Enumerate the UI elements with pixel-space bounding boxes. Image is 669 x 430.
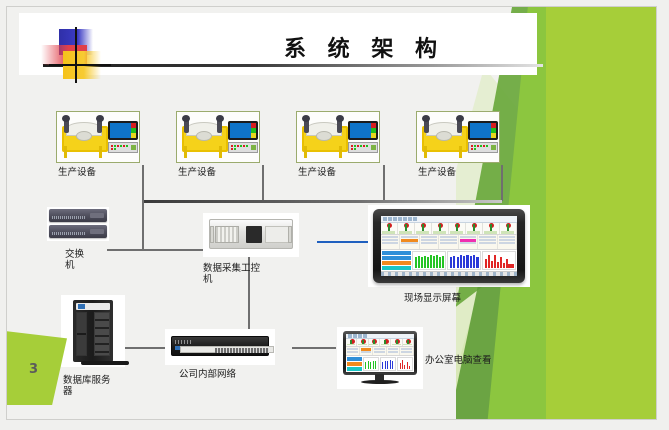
machine-leg-right xyxy=(219,146,222,158)
server-base xyxy=(81,361,129,365)
indicator-yellow xyxy=(371,133,376,138)
bar xyxy=(436,255,438,268)
bar xyxy=(375,361,376,369)
equipment-control-panel-icon xyxy=(108,142,138,153)
left-row xyxy=(382,261,411,265)
cell-line xyxy=(382,242,398,244)
gauge-widget xyxy=(357,339,368,346)
database-server-label: 数据库服务器 xyxy=(63,375,115,397)
page-title: 系 统 架 构 xyxy=(229,31,499,63)
switch-ports xyxy=(52,232,86,235)
monitor-indicators xyxy=(251,123,256,138)
machine-icon xyxy=(298,114,348,160)
panel-led xyxy=(237,145,239,147)
switch-unit-bottom xyxy=(49,225,107,238)
switch-label: 交换机 xyxy=(65,249,91,271)
machine-head-left xyxy=(302,115,310,122)
equipment-control-panel-icon xyxy=(228,142,258,153)
equipment-label-4: 生产设备 xyxy=(418,167,460,178)
cell-line xyxy=(401,348,412,350)
left-row xyxy=(347,367,362,371)
gauge-cap xyxy=(450,231,463,234)
dashboard-gauge-row xyxy=(381,223,517,235)
hairline-3 xyxy=(7,253,65,292)
toolbar-icon xyxy=(408,217,412,221)
panel-led xyxy=(234,148,236,150)
connector-bus-to-ipc xyxy=(142,200,144,250)
office-monitor-bezel xyxy=(343,331,417,375)
panel-cell xyxy=(360,347,374,355)
bar xyxy=(427,257,429,268)
machine-leg-right xyxy=(339,146,342,158)
monitor-screen xyxy=(230,123,251,138)
gauge-widget xyxy=(500,223,517,234)
panel-led xyxy=(360,145,362,147)
lan-switch-icon xyxy=(165,329,275,365)
machine-icon xyxy=(178,114,228,160)
left-row xyxy=(347,362,362,366)
machine-disc xyxy=(76,131,92,141)
bar xyxy=(370,362,371,369)
switch-icon xyxy=(47,207,109,241)
gauge-widget xyxy=(381,223,398,234)
connector-eq1-drop xyxy=(142,165,144,201)
gauge-stick xyxy=(388,224,390,231)
bar xyxy=(365,362,366,369)
bar xyxy=(404,365,405,369)
bar-chart-green xyxy=(363,357,379,371)
logo-vertical-bar xyxy=(75,27,77,83)
monitor-indicators xyxy=(491,123,496,138)
bar xyxy=(421,257,423,268)
bar xyxy=(368,361,369,369)
switch-ports xyxy=(52,216,86,219)
cell-line xyxy=(440,236,456,238)
toolbar-icon xyxy=(393,217,397,221)
machine-leg-right xyxy=(99,146,102,158)
panel-led xyxy=(234,145,236,147)
toolbar-icon xyxy=(398,217,402,221)
node-production-equipment-4[interactable]: 生产设备 xyxy=(416,111,500,163)
lan-switch-chassis xyxy=(171,336,269,356)
panel-button xyxy=(371,145,376,150)
bar xyxy=(407,362,408,369)
gauge-widget xyxy=(415,223,432,234)
machine-head-right xyxy=(456,115,464,122)
machine-disc xyxy=(196,131,212,141)
equipment-hmi xyxy=(468,121,498,153)
machine-head-left xyxy=(62,115,70,122)
panel-led xyxy=(357,145,359,147)
toolbar-icon xyxy=(353,334,357,338)
machine-disc xyxy=(436,131,452,141)
chassis-ear-right xyxy=(288,226,292,243)
dashboard-large xyxy=(381,216,517,276)
gauge-cap xyxy=(416,231,429,234)
gauge-cap xyxy=(501,231,514,234)
logo-horizontal-bar xyxy=(49,64,111,66)
connector-eq3-drop xyxy=(383,165,385,201)
dashboard-small xyxy=(346,334,414,372)
gauge-stick xyxy=(473,224,475,231)
panel-led xyxy=(111,148,113,150)
bar xyxy=(402,360,403,369)
bar xyxy=(485,259,487,267)
chassis-faceplate xyxy=(265,226,289,243)
equipment-monitor-icon xyxy=(108,121,138,140)
dashboard-gauge-row xyxy=(346,339,414,347)
gauge-stick xyxy=(456,224,458,231)
office-monitor-screen xyxy=(346,334,414,372)
indicator-yellow xyxy=(491,133,496,138)
connector-switch-to-ipc xyxy=(107,249,205,251)
wall-display-icon xyxy=(368,205,530,287)
machine-icon xyxy=(58,114,108,160)
cell-line xyxy=(421,236,437,238)
node-office-pc[interactable]: 办公室电脑查看 xyxy=(337,327,423,389)
lan-switch-label: 公司内部网络 xyxy=(179,369,239,380)
panel-cell xyxy=(498,235,517,248)
cell-line xyxy=(374,351,385,353)
gauge-stick xyxy=(490,224,492,231)
wall-display-screen xyxy=(381,216,517,276)
bar-chart-blue xyxy=(380,357,396,371)
gauge-widget xyxy=(391,339,402,346)
node-production-equipment-3[interactable]: 生产设备 xyxy=(296,111,380,163)
panel-cell xyxy=(387,347,401,355)
panel-led xyxy=(246,145,248,147)
panel-led xyxy=(474,148,476,150)
gauge-cap xyxy=(399,231,412,234)
equipment-card xyxy=(416,111,500,163)
slide-canvas: 系 统 架 构 xyxy=(6,6,657,420)
gauge-cap xyxy=(467,231,480,234)
gauge-widget xyxy=(380,339,391,346)
bg-shape-bright xyxy=(546,7,656,419)
monitor-screen xyxy=(350,123,371,138)
toolbar-icon xyxy=(348,334,352,338)
toolbar-icon xyxy=(413,217,417,221)
cell-line xyxy=(374,348,385,350)
machine-head-left xyxy=(182,115,190,122)
panel-led xyxy=(474,145,476,147)
indicator-yellow xyxy=(251,133,256,138)
gauge-cap xyxy=(392,344,401,346)
machine-leg-left xyxy=(304,146,307,158)
panel-led xyxy=(231,148,233,150)
node-industrial-pc[interactable]: 数据采集工控机 xyxy=(203,213,299,257)
gauge-cap xyxy=(381,344,390,346)
bar xyxy=(460,255,462,267)
equipment-card xyxy=(56,111,140,163)
equipment-control-panel-icon xyxy=(468,142,498,153)
cell-line xyxy=(499,236,515,238)
connector-equipment-bus xyxy=(142,200,502,203)
node-switch[interactable]: 交换机 xyxy=(47,207,109,241)
connector-eq2-drop xyxy=(262,165,264,201)
node-wall-display[interactable]: 现场显示屏幕 xyxy=(368,205,530,287)
page-number: 3 xyxy=(29,362,38,377)
machine-icon xyxy=(418,114,468,160)
cell-line xyxy=(421,239,437,241)
gauge-widget xyxy=(369,339,380,346)
cell-line xyxy=(440,242,456,244)
bar xyxy=(453,256,455,268)
left-row xyxy=(382,251,411,255)
gauge-cap xyxy=(484,231,497,234)
bar xyxy=(497,262,499,268)
slide-root: 系 统 架 构 xyxy=(0,0,669,430)
bar xyxy=(463,256,465,267)
equipment-label-2: 生产设备 xyxy=(178,167,220,178)
bar xyxy=(418,256,420,268)
equipment-monitor-icon xyxy=(468,121,498,140)
dashboard-toolbar xyxy=(381,216,517,223)
bar xyxy=(424,256,426,268)
panel-cell xyxy=(346,347,360,355)
bar xyxy=(506,259,508,268)
toolbar-icon xyxy=(403,217,407,221)
bar xyxy=(382,362,383,369)
machine-head-right xyxy=(216,115,224,122)
gauge-stick xyxy=(507,224,509,231)
panel-cell xyxy=(439,235,458,248)
cell-line xyxy=(382,236,398,238)
indicator-yellow xyxy=(131,133,136,138)
panel-leds xyxy=(230,145,250,151)
office-pc-label: 办公室电脑查看 xyxy=(425,355,495,366)
bar xyxy=(433,256,435,267)
cell-line xyxy=(479,236,495,238)
bar xyxy=(500,257,502,268)
toolbar-icon xyxy=(383,217,387,221)
gauge-widget xyxy=(466,223,483,234)
machine-head-right xyxy=(96,115,104,122)
gauge-stick xyxy=(422,224,424,231)
wall-display-label: 现场显示屏幕 xyxy=(404,293,466,304)
server-tower xyxy=(73,300,113,362)
cell-line xyxy=(401,236,417,238)
panel-led xyxy=(111,145,113,147)
dashboard-left-panel xyxy=(347,357,362,371)
gauge-widget xyxy=(398,223,415,234)
bar xyxy=(511,264,513,267)
gauge-widget xyxy=(346,339,357,346)
cell-line xyxy=(388,348,399,350)
server-left-bays xyxy=(76,312,87,356)
cell-line xyxy=(401,351,412,353)
bar xyxy=(390,360,391,369)
gauge-cap xyxy=(358,344,367,346)
panel-cell xyxy=(478,235,497,248)
gauge-widget xyxy=(403,339,414,346)
panel-led xyxy=(351,148,353,150)
chassis-ear-left xyxy=(210,226,214,243)
title-band: 系 统 架 构 xyxy=(19,13,537,75)
cell-line xyxy=(460,242,476,244)
panel-cell xyxy=(381,235,400,248)
equipment-monitor-icon xyxy=(228,121,258,140)
panel-led xyxy=(114,148,116,150)
gauge-cap xyxy=(347,344,356,346)
bar xyxy=(415,257,417,268)
bar xyxy=(488,255,490,267)
panel-led xyxy=(477,145,479,147)
dashboard-statusbar xyxy=(381,271,517,276)
title-underline xyxy=(43,64,543,67)
cell-line xyxy=(388,351,399,353)
node-lan-switch[interactable]: 公司内部网络 xyxy=(165,329,275,365)
lan-switch-leds xyxy=(175,340,191,344)
panel-button xyxy=(131,145,136,150)
connector-lan-right xyxy=(292,347,336,349)
equipment-hmi xyxy=(228,121,258,153)
machine-leg-left xyxy=(424,146,427,158)
chassis-drive-bay xyxy=(246,226,262,243)
server-badge xyxy=(78,304,85,309)
bar xyxy=(373,361,374,369)
monitor-indicators xyxy=(371,123,376,138)
switch-bay xyxy=(90,213,104,218)
gauge-widget xyxy=(483,223,500,234)
bar xyxy=(494,255,496,268)
gauge-widget xyxy=(432,223,449,234)
lan-switch-ports xyxy=(215,348,269,353)
bar xyxy=(470,256,472,268)
panel-led xyxy=(483,145,485,147)
panel-led xyxy=(480,145,482,147)
bar xyxy=(387,361,388,369)
equipment-hmi xyxy=(348,121,378,153)
machine-leg-left xyxy=(184,146,187,158)
cell-line xyxy=(479,242,495,244)
dashboard-chart-row xyxy=(346,356,414,372)
gauge-cap xyxy=(433,231,446,234)
industrial-pc-icon xyxy=(203,213,299,257)
bar xyxy=(392,361,393,369)
node-database-server[interactable]: 数据库服务器 xyxy=(61,295,125,367)
cell-line xyxy=(347,351,358,353)
bar xyxy=(466,255,468,268)
industrial-pc-label: 数据采集工控机 xyxy=(203,263,267,285)
monitor-screen xyxy=(110,123,131,138)
panel-cell xyxy=(459,235,478,248)
panel-button xyxy=(491,145,496,150)
panel-led xyxy=(231,145,233,147)
equipment-card xyxy=(296,111,380,163)
bar xyxy=(450,257,452,268)
panel-led xyxy=(120,145,122,147)
equipment-hmi xyxy=(108,121,138,153)
bar xyxy=(491,261,493,268)
database-server-icon xyxy=(61,295,125,367)
panel-led xyxy=(363,145,365,147)
bar xyxy=(476,257,478,268)
panel-cell xyxy=(420,235,439,248)
machine-leg-left xyxy=(64,146,67,158)
monitor-stand-base xyxy=(361,380,399,384)
cell-line xyxy=(421,242,437,244)
panel-led xyxy=(240,145,242,147)
switch-unit-top xyxy=(49,209,107,222)
logo xyxy=(41,27,117,81)
node-production-equipment-1[interactable]: 生产设备 xyxy=(56,111,140,163)
monitor-indicators xyxy=(131,123,136,138)
equipment-control-panel-icon xyxy=(348,142,378,153)
connector-ipc-to-wall-display xyxy=(317,241,373,243)
machine-head-left xyxy=(422,115,430,122)
bar xyxy=(508,264,510,268)
panel-led xyxy=(471,148,473,150)
dashboard-panel-row xyxy=(346,347,414,356)
panel-led xyxy=(243,145,245,147)
bar xyxy=(439,257,441,268)
left-row xyxy=(382,266,411,270)
panel-led xyxy=(471,145,473,147)
bar xyxy=(442,256,444,268)
panel-led xyxy=(486,145,488,147)
node-production-equipment-2[interactable]: 生产设备 xyxy=(176,111,260,163)
panel-leds xyxy=(110,145,130,151)
equipment-card xyxy=(176,111,260,163)
bar-chart-blue xyxy=(447,251,481,270)
panel-button xyxy=(251,145,256,150)
lan-switch-port-strip xyxy=(180,346,274,353)
bar-chart-red xyxy=(482,251,516,270)
bar xyxy=(457,257,459,268)
bar xyxy=(473,255,475,268)
dashboard-panel-row xyxy=(381,235,517,249)
panel-led xyxy=(126,145,128,147)
bar xyxy=(400,363,401,369)
panel-leds xyxy=(350,145,370,151)
toolbar-icon xyxy=(358,334,362,338)
cell-line xyxy=(361,351,372,353)
equipment-monitor-icon xyxy=(348,121,378,140)
toolbar-icon xyxy=(363,334,367,338)
equipment-label-1: 生产设备 xyxy=(58,167,100,178)
bar xyxy=(430,255,432,267)
cell-line xyxy=(460,236,476,238)
cell-line xyxy=(499,242,515,244)
panel-led xyxy=(114,145,116,147)
panel-led xyxy=(351,145,353,147)
toolbar-icon xyxy=(388,217,392,221)
panel-led xyxy=(123,145,125,147)
panel-led xyxy=(117,145,119,147)
office-pc-icon xyxy=(337,327,423,389)
cell-line xyxy=(440,239,456,241)
cell-line xyxy=(401,242,417,244)
gauge-cap xyxy=(403,344,412,346)
bar xyxy=(385,361,386,369)
server-drive-bays xyxy=(94,312,110,356)
panel-cell xyxy=(373,347,387,355)
industrial-pc-chassis xyxy=(209,219,293,249)
panel-cell xyxy=(400,235,419,248)
bar-chart-red xyxy=(397,357,413,371)
bar xyxy=(409,366,410,369)
panel-led xyxy=(354,145,356,147)
gauge-cap xyxy=(369,344,378,346)
machine-leg-right xyxy=(459,146,462,158)
cell-line xyxy=(479,239,495,241)
cell-line xyxy=(499,239,515,241)
bar-chart-green xyxy=(412,251,446,270)
dashboard-chart-row xyxy=(381,250,517,271)
chassis-vents xyxy=(215,226,239,243)
panel-leds xyxy=(470,145,490,151)
